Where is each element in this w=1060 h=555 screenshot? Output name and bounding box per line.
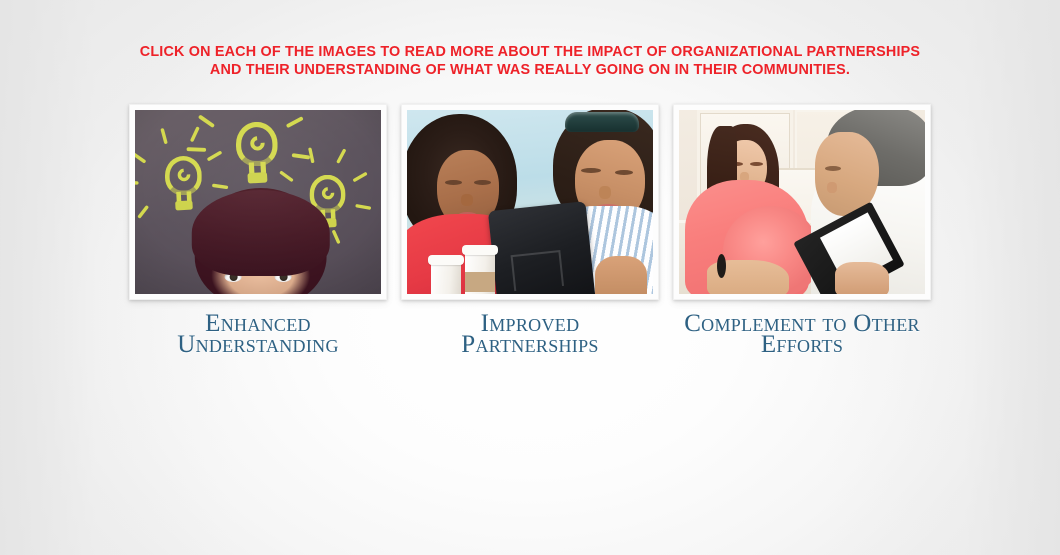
caption-line-2: Understanding bbox=[129, 334, 387, 355]
caption-enhanced-understanding[interactable]: Enhanced Understanding bbox=[129, 313, 387, 355]
caption-improved-partnerships[interactable]: Improved Partnerships bbox=[401, 313, 659, 355]
image-frame-improved-partnerships[interactable] bbox=[401, 104, 659, 300]
caption-line-2: Efforts bbox=[673, 334, 931, 355]
caption-complement-to-other-efforts[interactable]: Complement to Other Efforts bbox=[673, 313, 931, 355]
page-stage: CLICK ON EACH OF THE IMAGES TO READ MORE… bbox=[0, 0, 1060, 555]
sunglasses-icon bbox=[565, 112, 639, 132]
doctor-hand bbox=[835, 262, 889, 294]
page-instruction-heading: CLICK ON EACH OF THE IMAGES TO READ MORE… bbox=[8, 44, 1052, 79]
image-card-row: Enhanced Understanding bbox=[0, 104, 1060, 355]
image-frame-complement-to-other-efforts[interactable] bbox=[673, 104, 931, 300]
photo-complement-to-other-efforts[interactable] bbox=[679, 110, 925, 294]
patient-bracelet bbox=[717, 254, 726, 278]
caption-line-2: Partnerships bbox=[401, 334, 659, 355]
coffee-cup-right bbox=[465, 250, 495, 294]
photo-improved-partnerships[interactable] bbox=[407, 110, 653, 294]
card-improved-partnerships[interactable]: Improved Partnerships bbox=[401, 104, 659, 355]
photo-enhanced-understanding[interactable] bbox=[135, 110, 381, 294]
card-enhanced-understanding[interactable]: Enhanced Understanding bbox=[129, 104, 387, 355]
heading-line-2: AND THEIR UNDERSTANDING OF WHAT WAS REAL… bbox=[8, 62, 1052, 80]
image-frame-enhanced-understanding[interactable] bbox=[129, 104, 387, 300]
photo-vignette bbox=[135, 110, 381, 294]
heading-line-1: CLICK ON EACH OF THE IMAGES TO READ MORE… bbox=[8, 44, 1052, 62]
tablet-device bbox=[488, 201, 596, 294]
hand-holding-tablet bbox=[595, 256, 647, 294]
coffee-cup-left bbox=[431, 260, 461, 294]
card-complement-to-other-efforts[interactable]: Complement to Other Efforts bbox=[673, 104, 931, 355]
